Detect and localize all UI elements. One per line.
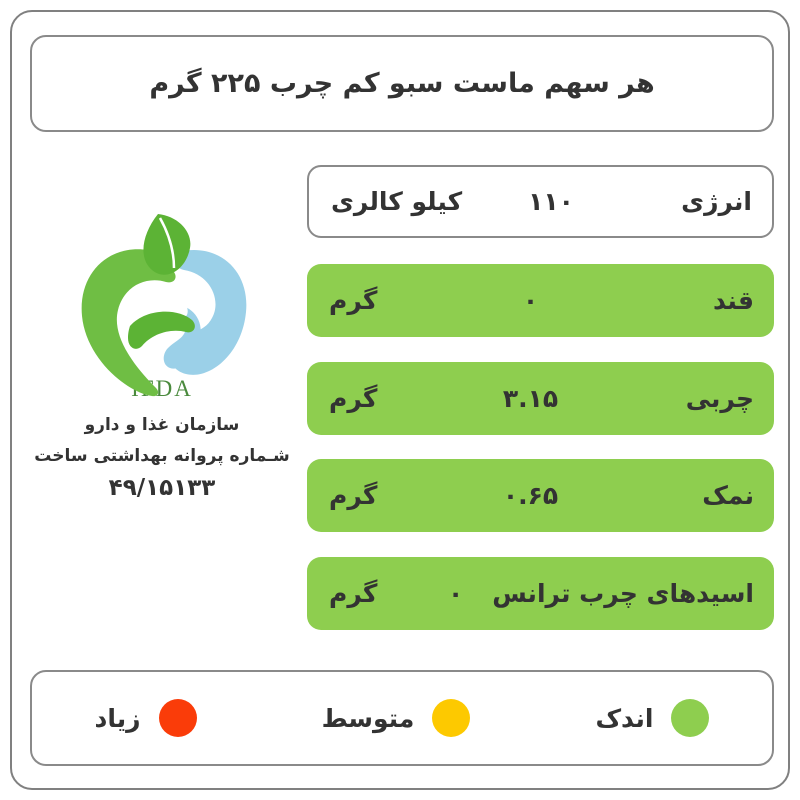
legend-item-high: زیاد <box>95 699 197 737</box>
health-license-label: شـماره پروانه بهداشتی ساخت <box>34 446 289 466</box>
nutrient-value-fat: ۳.۱۵ <box>447 384 642 413</box>
nutrient-label-energy: انرژی <box>640 187 752 216</box>
nutrient-row-energy: انرژی ۱۱۰ کیلو کالری <box>307 165 774 238</box>
traffic-light-legend: اندک متوسط زیاد <box>30 670 774 766</box>
nutrition-label-card: هر سهم ماست سبو کم چرب ۲۲۵ گرم IFDA سازم… <box>10 10 790 790</box>
health-license-number: ۴۹/۱۵۱۳۳ <box>109 475 216 501</box>
nutrient-row-trans-fat: اسیدهای چرب ترانس ۰ گرم <box>307 557 774 630</box>
legend-item-medium: متوسط <box>322 699 471 737</box>
nutrient-label-sugar: قند <box>642 286 754 315</box>
nutrient-unit-energy: کیلو کالری <box>331 187 462 216</box>
nutrient-value-salt: ۰.۶۵ <box>447 481 642 510</box>
nutrient-value-energy: ۱۱۰ <box>462 187 640 216</box>
nutrient-label-trans-fat: اسیدهای چرب ترانس <box>492 579 754 608</box>
ifda-organization-name: سازمان غذا و دارو <box>85 415 240 435</box>
ifda-logo-block: IFDA سازمان غذا و دارو شـماره پروانه بهد… <box>44 208 280 548</box>
nutrient-label-fat: چربی <box>642 384 754 413</box>
nutrient-row-sugar: قند ۰ گرم <box>307 264 774 337</box>
legend-label-high: زیاد <box>95 704 141 733</box>
serving-size-text: هر سهم ماست سبو کم چرب ۲۲۵ گرم <box>149 68 654 99</box>
nutrient-unit-sugar: گرم <box>329 286 447 315</box>
ifda-apple-logo-icon <box>74 208 250 398</box>
legend-item-low: اندک <box>595 699 709 737</box>
legend-dot-red-icon <box>159 699 197 737</box>
nutrient-row-fat: چربی ۳.۱۵ گرم <box>307 362 774 435</box>
nutrient-row-salt: نمک ۰.۶۵ گرم <box>307 459 774 532</box>
serving-size-header: هر سهم ماست سبو کم چرب ۲۲۵ گرم <box>30 35 774 132</box>
nutrient-unit-fat: گرم <box>329 384 447 413</box>
nutrient-value-trans-fat: ۰ <box>447 579 492 608</box>
legend-label-medium: متوسط <box>322 704 415 733</box>
legend-label-low: اندک <box>595 704 653 733</box>
nutrient-unit-salt: گرم <box>329 481 447 510</box>
legend-dot-green-icon <box>671 699 709 737</box>
nutrient-value-sugar: ۰ <box>447 286 642 315</box>
nutrient-label-salt: نمک <box>642 481 754 510</box>
nutrient-unit-trans-fat: گرم <box>329 579 447 608</box>
legend-dot-yellow-icon <box>432 699 470 737</box>
